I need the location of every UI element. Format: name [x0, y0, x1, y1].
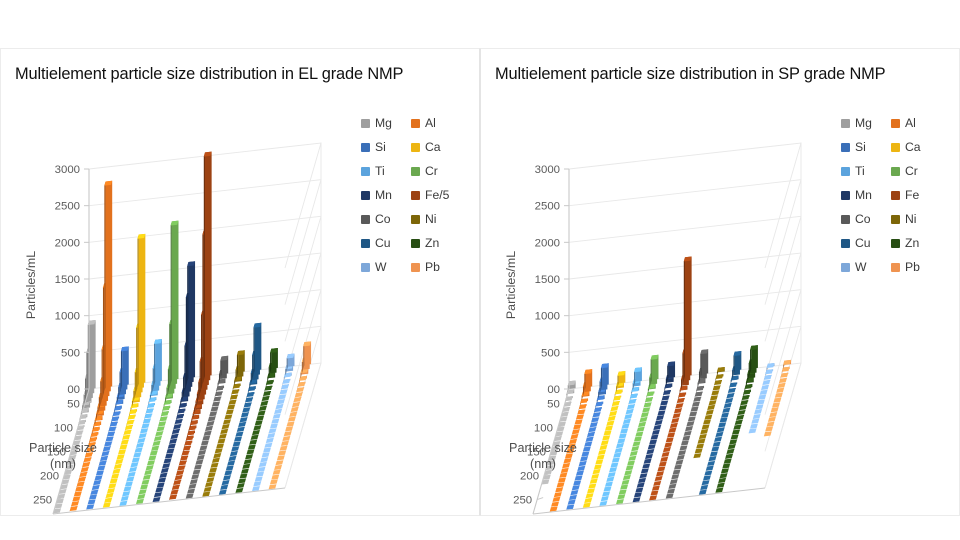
- bar-top-face: [154, 492, 162, 497]
- bar-top-face: [664, 442, 672, 447]
- bar-top-face: [278, 451, 286, 456]
- bar-Cu: [231, 446, 239, 451]
- bar-top-face: [616, 443, 624, 448]
- legend-item-Fe[interactable]: Fe: [891, 183, 941, 207]
- bar-top-face: [758, 395, 766, 400]
- bar-Mn: [635, 488, 643, 493]
- bar-Zn: [729, 439, 737, 445]
- bar-Co: [187, 489, 195, 494]
- bar-top-face: [276, 404, 284, 409]
- bar-Zn: [245, 454, 253, 459]
- bar-top-face: [710, 451, 718, 456]
- bar-top-face: [92, 485, 100, 490]
- legend-item-Cu[interactable]: Cu: [841, 231, 891, 255]
- bar-Pb: [281, 441, 289, 446]
- bar-top-face: [584, 498, 592, 503]
- bar-Pb: [282, 436, 290, 441]
- bar-top-face: [102, 451, 110, 456]
- bar-Pb: [765, 427, 773, 432]
- bar-top-face: [266, 380, 274, 385]
- bar-top-face: [659, 462, 667, 467]
- bar-Mn: [651, 435, 659, 440]
- bar-front-face: [172, 221, 179, 380]
- legend-item-Si[interactable]: Si: [841, 135, 891, 159]
- bar-top-face: [202, 492, 210, 497]
- bar-top-face: [551, 502, 559, 507]
- bar-Ni: [693, 453, 701, 458]
- bar-W: [282, 379, 290, 386]
- legend-item-Pb[interactable]: Pb: [891, 255, 941, 279]
- legend-item-W[interactable]: W: [841, 255, 891, 279]
- bar-top-face: [191, 474, 199, 479]
- y-tick-label: 3000: [535, 164, 560, 176]
- bar-Ca: [103, 503, 111, 508]
- bar-Fe-5: [171, 490, 179, 496]
- bar-top-face: [113, 469, 121, 474]
- bar-top-face: [753, 414, 761, 419]
- bar-top-face: [595, 402, 603, 407]
- bar-top-face: [689, 412, 697, 417]
- bar-top-face: [256, 416, 264, 421]
- bar-Ni: [710, 395, 718, 400]
- bar-top-face: [175, 419, 183, 424]
- bar-Co: [687, 421, 695, 426]
- bar-Ti: [608, 472, 616, 477]
- y-tick-label: 2500: [55, 201, 80, 213]
- bar-Zn: [240, 474, 248, 479]
- bar-top-face: [570, 490, 578, 495]
- legend-item-Mg[interactable]: Mg: [841, 111, 891, 135]
- bar-Ti: [132, 457, 140, 462]
- bar-Ti: [143, 418, 151, 424]
- bar-top-face: [582, 451, 590, 456]
- legend-item-Pb[interactable]: Pb: [411, 255, 461, 279]
- bar-top-face: [135, 448, 143, 453]
- bar-top-face: [624, 414, 632, 419]
- bar-top-face: [93, 421, 101, 426]
- bar-Co: [212, 402, 220, 408]
- bar-Co: [671, 474, 679, 479]
- bar-top-face: [606, 477, 614, 482]
- bar-top-face: [126, 420, 134, 425]
- bar-Cu: [244, 402, 252, 408]
- bar-Zn: [731, 434, 739, 440]
- bar-top-face: [675, 460, 683, 465]
- bar-Ti: [144, 413, 152, 419]
- bar-Ca: [104, 498, 112, 503]
- bar-Cr: [637, 427, 645, 432]
- bar-W: [266, 438, 274, 443]
- bar-Si: [586, 437, 594, 442]
- bar-top-face: [230, 395, 238, 400]
- bar-top-face: [620, 429, 628, 434]
- legend-swatch-icon: [841, 263, 850, 272]
- bar-top-face: [251, 435, 259, 440]
- bar-top-face: [121, 440, 129, 445]
- bar-top-face: [262, 452, 270, 457]
- bar-top-face: [124, 486, 132, 491]
- bar-top-face: [267, 433, 275, 438]
- bar-Co: [678, 450, 686, 455]
- bar-Al: [75, 487, 83, 493]
- bar-Ni: [714, 380, 722, 386]
- legend-item-Zn[interactable]: Zn: [411, 231, 461, 255]
- bar-Zn: [241, 469, 249, 474]
- bar-top-face: [608, 416, 616, 421]
- bar-top-face: [566, 505, 574, 510]
- bar-Cr: [630, 451, 638, 456]
- bar-Ni: [227, 405, 235, 410]
- bar-top-face: [211, 463, 219, 468]
- bar-top-face: [699, 434, 707, 439]
- bar-top-face: [233, 383, 241, 388]
- bar-Ni: [698, 439, 706, 444]
- bar-Ni: [716, 374, 724, 381]
- bar-top-face: [725, 398, 733, 403]
- bar-Al: [551, 502, 559, 507]
- bar-top-face: [778, 383, 786, 388]
- bar-side-face: [104, 181, 105, 391]
- bar-top-face: [648, 444, 656, 449]
- bar-top-face: [271, 419, 279, 424]
- bar-top-face: [280, 389, 288, 394]
- bar-Mn: [160, 473, 168, 478]
- legend-item-Mn[interactable]: Mn: [361, 183, 411, 207]
- bar-Cu: [717, 427, 725, 432]
- bar-Cr: [142, 480, 150, 485]
- bar-Pb: [772, 403, 780, 408]
- bar-Si: [591, 417, 599, 423]
- bar-top-face: [155, 487, 163, 492]
- bar-top-face: [710, 395, 718, 400]
- bar-Cu: [227, 461, 235, 466]
- bar-top-face: [715, 488, 723, 493]
- legend-item-Ni[interactable]: Ni: [411, 207, 461, 231]
- bar-top-face: [700, 429, 708, 434]
- bar-top-face: [162, 463, 170, 468]
- bar-Co: [682, 436, 690, 441]
- bar-top-face: [564, 458, 572, 463]
- bar-top-face: [715, 432, 723, 437]
- bar-top-face: [190, 420, 198, 425]
- legend-item-Al[interactable]: Al: [891, 111, 941, 135]
- bar-Si: [88, 500, 96, 505]
- bar-Cr: [158, 421, 166, 427]
- bar-W: [757, 400, 765, 405]
- bar-Ca: [591, 474, 599, 479]
- bar-top-face: [77, 482, 85, 487]
- y-tick-label: 2000: [55, 237, 80, 249]
- legend-item-Cr[interactable]: Cr: [411, 159, 461, 183]
- x-tick-label: 50: [547, 398, 560, 410]
- bar-side-face: [202, 230, 203, 385]
- bar-top-face: [606, 421, 614, 426]
- bar-top-face: [202, 436, 210, 441]
- legend-item-Ti[interactable]: Ti: [841, 159, 891, 183]
- bar-top-face: [189, 425, 197, 430]
- bar-top-face: [242, 464, 250, 469]
- bar-top-face: [601, 496, 609, 501]
- bar-W: [253, 481, 261, 486]
- bar-top-face: [264, 443, 272, 448]
- y-tick-label: 1500: [55, 274, 80, 286]
- bar-Al: [577, 409, 585, 415]
- bar-top-face: [252, 486, 260, 491]
- bar-Ca: [590, 479, 598, 484]
- bar-top-face: [677, 398, 685, 403]
- bar-top-face: [740, 400, 748, 405]
- bar-Co: [692, 402, 700, 407]
- bar-Cu: [706, 466, 714, 471]
- bar-Co: [205, 426, 213, 431]
- legend-swatch-icon: [411, 119, 420, 128]
- bar-top-face: [249, 440, 257, 445]
- legend-item-Zn[interactable]: Zn: [891, 231, 941, 255]
- bar-Ca: [137, 234, 145, 388]
- bar-Cr: [622, 480, 630, 485]
- bar-top-face: [656, 471, 664, 476]
- bar-top-face: [652, 430, 660, 435]
- legend-item-Mg[interactable]: Mg: [361, 111, 411, 135]
- bar-top-face: [143, 418, 151, 423]
- bar-top-face: [599, 501, 607, 506]
- bar-Fe: [656, 471, 664, 476]
- bar-top-face: [234, 437, 242, 442]
- bar-Al: [571, 434, 579, 439]
- bar-top-face: [100, 456, 108, 461]
- bar-Si: [569, 495, 577, 500]
- bar-top-face: [258, 411, 266, 416]
- bar-top-face: [114, 464, 122, 469]
- bar-Fe: [674, 408, 682, 414]
- bar-top-face: [591, 417, 599, 422]
- bar-Ni: [216, 444, 224, 449]
- legend-swatch-icon: [411, 215, 420, 224]
- bar-top-face: [153, 497, 161, 502]
- bar-Ti: [121, 496, 129, 501]
- bar-top-face: [230, 451, 238, 456]
- bar-Al: [77, 482, 85, 488]
- bar-Ca: [117, 454, 125, 459]
- bar-Mn: [633, 497, 641, 502]
- bar-Zn: [237, 483, 245, 488]
- bar-top-face: [613, 396, 621, 401]
- bar-front-face: [255, 323, 262, 371]
- bar-Ti: [615, 448, 623, 453]
- bar-top-face: [718, 478, 726, 483]
- bar-top-face: [602, 435, 610, 440]
- legend-item-Ti[interactable]: Ti: [361, 159, 411, 183]
- bar-Zn: [262, 396, 270, 402]
- bar-Mn: [658, 410, 666, 415]
- bar-top-face: [706, 466, 714, 471]
- bar-top-face: [660, 457, 668, 462]
- bar-top-face: [724, 459, 732, 464]
- bar-Cu: [699, 490, 707, 495]
- legend-item-Ca[interactable]: Ca: [891, 135, 941, 159]
- bar-Ti: [617, 438, 625, 443]
- bar-Si: [590, 422, 598, 428]
- bar-top-face: [260, 457, 268, 462]
- bar-Si: [584, 442, 592, 447]
- bar-top-face: [128, 415, 136, 420]
- legend-item-Cr[interactable]: Cr: [891, 159, 941, 183]
- bar-top-face: [122, 435, 130, 440]
- bar-top-face: [241, 412, 249, 417]
- bar-top-face: [709, 400, 717, 405]
- y-tick-label: 1000: [535, 311, 560, 323]
- bar-Co: [669, 484, 677, 489]
- bar-top-face: [624, 470, 632, 475]
- legend-item-Si[interactable]: Si: [361, 135, 411, 159]
- bar-top-face: [660, 401, 668, 406]
- bar-top-face: [593, 469, 601, 474]
- bar-Cu: [229, 456, 237, 461]
- bar-Fe-5: [169, 495, 177, 501]
- bar-side-face: [169, 320, 170, 389]
- bar-top-face: [256, 472, 264, 477]
- bar-Ca: [118, 449, 126, 454]
- bar-top-face: [178, 409, 186, 414]
- bar-top-face: [104, 441, 112, 446]
- bar-top-face: [629, 399, 637, 404]
- bar-top-face: [224, 414, 232, 419]
- bar-side-face: [168, 365, 169, 393]
- bar-top-face: [739, 405, 747, 410]
- x-tick-label: 200: [520, 471, 539, 483]
- bar-top-face: [721, 468, 729, 473]
- legend-label: Zn: [425, 236, 439, 250]
- bar-Mn: [173, 424, 181, 430]
- bar-top-face: [627, 404, 635, 409]
- bar-top-face: [222, 480, 230, 485]
- legend-label: Ni: [425, 212, 437, 226]
- bar-top-face: [176, 414, 184, 419]
- bar-top-face: [215, 448, 223, 453]
- bar-top-face: [577, 466, 585, 471]
- legend-swatch-icon: [411, 191, 420, 200]
- bar-top-face: [721, 413, 729, 418]
- legend-label: Zn: [905, 236, 919, 250]
- bar-top-face: [278, 394, 286, 399]
- bar-top-face: [573, 480, 581, 485]
- bar-top-face: [595, 460, 603, 465]
- legend-item-Mn[interactable]: Mn: [841, 183, 891, 207]
- legend-label: Cu: [375, 236, 391, 250]
- bar-Zn: [727, 449, 735, 454]
- bar-top-face: [171, 490, 179, 495]
- bar-top-face: [226, 410, 234, 415]
- bar-Pb: [269, 484, 277, 489]
- bar-side-face: [204, 152, 205, 380]
- bar-Ca: [608, 416, 616, 421]
- legend-label: Si: [855, 140, 866, 154]
- bar-Pb: [292, 402, 300, 407]
- legend-swatch-icon: [841, 167, 850, 176]
- bar-Cr: [628, 456, 636, 461]
- bar-Pb: [768, 417, 776, 422]
- bar-top-face: [569, 495, 577, 500]
- bar-top-face: [294, 397, 302, 402]
- bar-Fe: [673, 413, 681, 418]
- legend-swatch-icon: [411, 263, 420, 272]
- bar-Co: [209, 411, 217, 416]
- legend-label: Ca: [425, 140, 441, 154]
- bar-Ti: [620, 429, 628, 434]
- legend-item-Ca[interactable]: Ca: [411, 135, 461, 159]
- bar-top-face: [211, 407, 219, 412]
- bar-top-face: [125, 482, 133, 487]
- bar-top-face: [70, 506, 78, 511]
- bar-top-face: [673, 413, 681, 418]
- bar-W: [267, 433, 275, 438]
- bar-Ca: [593, 469, 601, 474]
- bar-Pb: [287, 422, 295, 427]
- bar-top-face: [172, 485, 180, 490]
- bar-Al: [559, 473, 567, 478]
- legend-item-Ni[interactable]: Ni: [891, 207, 941, 231]
- bar-Ni: [202, 492, 210, 497]
- bar-top-face: [146, 408, 154, 413]
- bar-Cu: [226, 466, 234, 471]
- bar-Zn: [258, 411, 266, 416]
- bar-Zn: [738, 410, 746, 416]
- legend-item-Co[interactable]: Co: [361, 207, 411, 231]
- legend-label: Co: [855, 212, 871, 226]
- bar-Pb: [273, 470, 281, 475]
- bar-Co: [204, 431, 212, 436]
- bar-top-face: [688, 416, 696, 421]
- legend-item-Co[interactable]: Co: [841, 207, 891, 231]
- legend-item-Al[interactable]: Al: [411, 111, 461, 135]
- bar-Ca: [597, 455, 605, 460]
- bar-top-face: [644, 402, 652, 407]
- bar-top-face: [284, 373, 292, 378]
- bar-Pb: [271, 475, 279, 480]
- bar-top-face: [554, 492, 562, 497]
- bar-Si: [573, 480, 581, 485]
- bar-Ti: [140, 428, 148, 434]
- bar-Si: [99, 461, 107, 467]
- bar-top-face: [593, 412, 601, 417]
- bar-top-face: [113, 411, 121, 416]
- bar-top-face: [670, 423, 678, 428]
- bar-Cr: [620, 485, 628, 490]
- bar-Cu: [710, 451, 718, 456]
- legend-item-W[interactable]: W: [361, 255, 411, 279]
- bar-front-face: [106, 181, 113, 387]
- bar-side-face: [200, 357, 201, 394]
- bar-Cu: [702, 480, 710, 485]
- bar-top-face: [200, 445, 208, 450]
- bar-Ti: [606, 477, 614, 482]
- bar-Cr: [146, 465, 154, 470]
- bar-top-face: [111, 474, 119, 479]
- legend-item-Cu[interactable]: Cu: [361, 231, 411, 255]
- bar-Ni: [231, 389, 239, 395]
- bar-Cu: [245, 397, 253, 403]
- legend-item-Fe-5[interactable]: Fe/5: [411, 183, 461, 207]
- bar-top-face: [180, 456, 188, 461]
- bar-top-face: [779, 378, 787, 383]
- panel-container: Multielement particle size distribution …: [0, 48, 960, 516]
- legend-swatch-icon: [361, 263, 370, 272]
- bar-Cr: [624, 470, 632, 475]
- bar-top-face: [270, 424, 278, 429]
- bar-top-face: [216, 444, 224, 449]
- bar-Ca: [594, 464, 602, 469]
- bar-top-face: [776, 388, 784, 393]
